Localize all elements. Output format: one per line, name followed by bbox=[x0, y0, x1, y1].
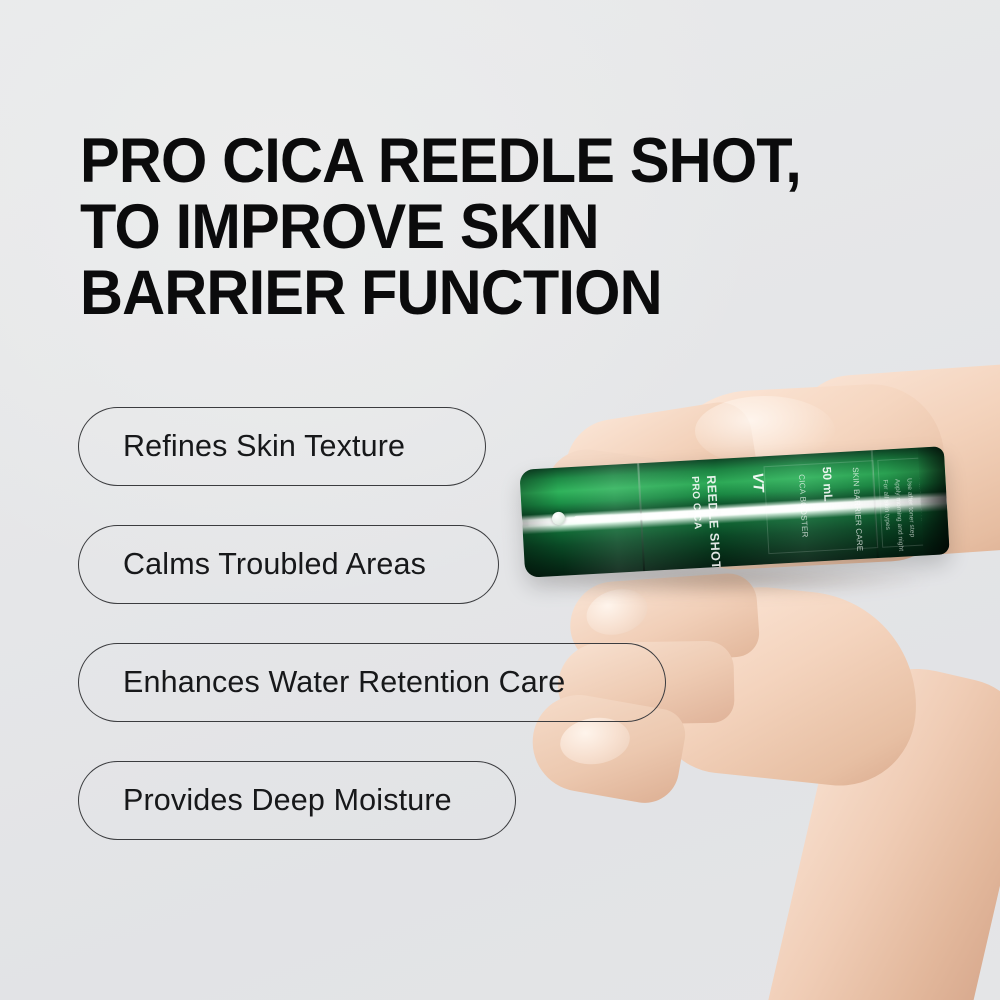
benefit-pill-refines-skin-texture[interactable]: Refines Skin Texture bbox=[78, 407, 486, 486]
benefit-pill-provides-deep-moisture[interactable]: Provides Deep Moisture bbox=[78, 761, 516, 840]
label-name: REEDLE SHOT bbox=[704, 475, 723, 570]
benefit-pill-label: Provides Deep Moisture bbox=[123, 785, 452, 816]
benefit-pill-calms-troubled-areas[interactable]: Calms Troubled Areas bbox=[78, 525, 499, 604]
benefit-pill-label: Refines Skin Texture bbox=[123, 431, 405, 462]
headline-line-2: TO IMPROVE SKIN bbox=[80, 194, 855, 260]
benefit-pill-label: Enhances Water Retention Care bbox=[123, 667, 565, 698]
benefit-pill-enhances-water-retention-care[interactable]: Enhances Water Retention Care bbox=[78, 643, 666, 722]
headline-line-3: BARRIER FUNCTION bbox=[80, 260, 855, 326]
benefit-pill-label: Calms Troubled Areas bbox=[123, 549, 426, 580]
label-brand: PRO CICA bbox=[689, 476, 703, 530]
page-title: PRO CICA REEDLE SHOT, TO IMPROVE SKIN BA… bbox=[80, 128, 900, 326]
label-script: VT bbox=[749, 472, 767, 492]
product-banner: PRO CICA REEDLE SHOT, TO IMPROVE SKIN BA… bbox=[0, 0, 1000, 1000]
headline-line-1: PRO CICA REEDLE SHOT, bbox=[80, 128, 855, 194]
lower-hand bbox=[550, 550, 1000, 1000]
label-volume: 50 mL bbox=[820, 466, 836, 501]
